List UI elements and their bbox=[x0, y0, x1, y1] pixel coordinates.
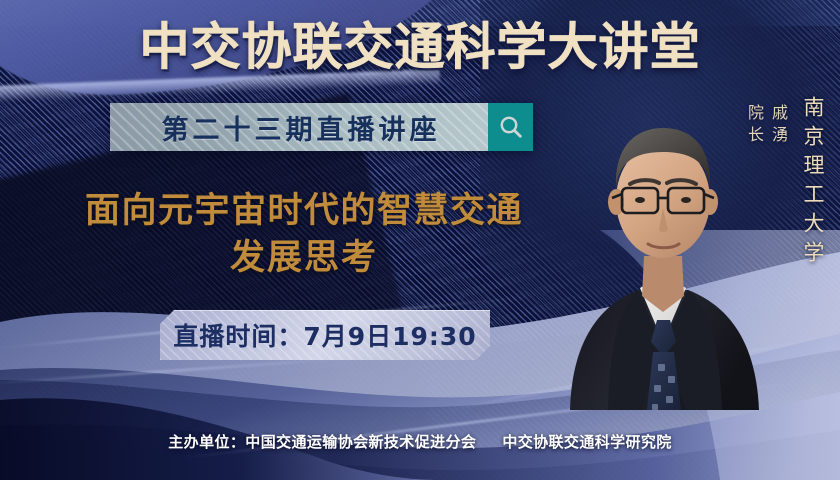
episode-banner-body: 第二十三期直播讲座 bbox=[110, 103, 488, 151]
poster-header-title: 中交协联交通科学大讲堂 bbox=[0, 18, 840, 76]
lecture-title-line-1: 面向元宇宙时代的智慧交通 bbox=[46, 188, 562, 235]
portrait-eye-right bbox=[681, 197, 691, 203]
organizer-label: 主办单位： bbox=[168, 433, 245, 451]
organizer-secondary: 中交协联交通科学研究院 bbox=[502, 433, 671, 451]
lecture-title-line-2: 发展思考 bbox=[46, 235, 562, 282]
broadcast-time-text: 直播时间：7月9日19:30 bbox=[173, 317, 476, 353]
organizer-footer: 主办单位：中国交通运输协会新技术促进分会中交协联交通科学研究院 bbox=[0, 431, 840, 452]
organizer-primary: 中国交通运输协会新技术促进分会 bbox=[245, 433, 476, 451]
episode-banner: 第二十三期直播讲座 bbox=[110, 103, 533, 151]
speaker-portrait bbox=[560, 80, 765, 410]
speaker-name-block: 戚湧 院长 bbox=[742, 104, 790, 148]
lecture-title: 面向元宇宙时代的智慧交通 发展思考 bbox=[46, 188, 562, 282]
search-icon[interactable] bbox=[488, 103, 533, 151]
episode-banner-text: 第二十三期直播讲座 bbox=[158, 108, 441, 147]
portrait-eye-left bbox=[635, 197, 645, 203]
speaker-affiliation: 南京理工大学 bbox=[798, 96, 828, 270]
speaker-title: 院长 bbox=[745, 104, 764, 148]
speaker-name: 戚湧 bbox=[769, 104, 788, 148]
poster-canvas: 中交协联交通科学大讲堂 第二十三期直播讲座 面向元宇宙时代的智慧交通 发展思考 … bbox=[0, 0, 840, 480]
broadcast-time-badge: 直播时间：7月9日19:30 bbox=[160, 310, 490, 360]
